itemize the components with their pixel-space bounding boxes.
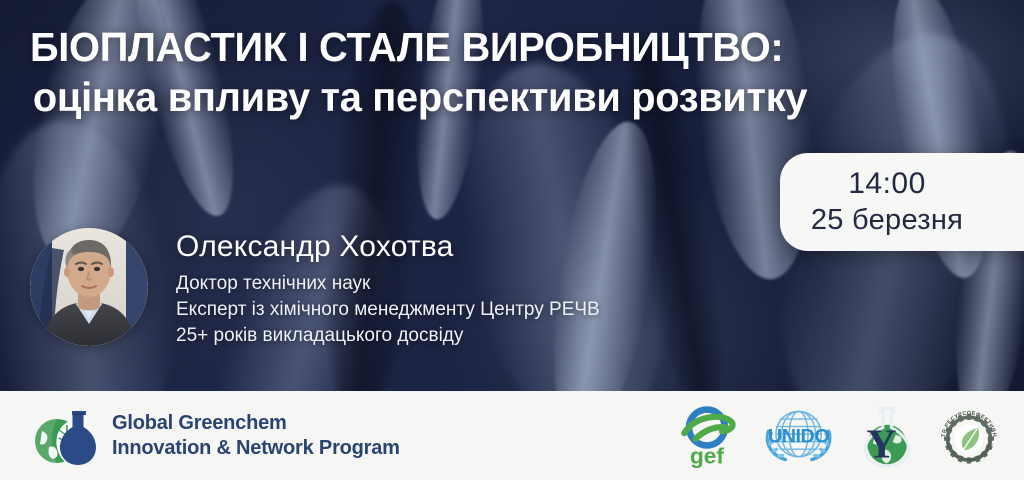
event-date: 25 березня [811, 202, 963, 238]
event-banner: БІОПЛАСТИК І СТАЛЕ ВИРОБНИЦТВО: оцінка в… [0, 0, 1024, 480]
title-line-2: оцінка впливу та перспективи розвитку [30, 72, 903, 122]
partner-logos: gef [673, 403, 1002, 469]
title-line-1: БІОПЛАСТИК І СТАЛЕ ВИРОБНИЦТВО: [30, 24, 783, 70]
unido-logo: UNIDO [759, 403, 838, 469]
avatar [30, 228, 148, 346]
speaker-credential-3: 25+ років викладацького досвіду [176, 323, 600, 349]
page-title: БІОПЛАСТИК І СТАЛЕ ВИРОБНИЦТВО: оцінка в… [30, 22, 903, 122]
gef-logo: gef [673, 403, 741, 469]
brand-logo: Global Greenchem Innovation & Network Pr… [32, 405, 400, 467]
footer-bar: Global Greenchem Innovation & Network Pr… [0, 391, 1024, 480]
speaker-name: Олександр Хохотва [176, 228, 600, 266]
globe-flask-icon [32, 405, 98, 467]
schedule-badge: 14:00 25 березня [780, 153, 1024, 251]
svg-text:Y: Y [866, 420, 896, 466]
speaker-info: Олександр Хохотва Доктор технічних наук … [176, 228, 600, 349]
rcp-center-logo: ЦЕНТР РЕСУРСОЕФЕКТИВНОГО ТА ЧИСТОГО ВИРО… [936, 403, 1002, 469]
svg-text:gef: gef [690, 443, 724, 468]
brand-line-1: Global Greenchem [112, 411, 400, 436]
speaker-credential-1: Доктор технічних наук [176, 271, 600, 297]
brand-text: Global Greenchem Innovation & Network Pr… [112, 411, 400, 461]
brand-line-2: Innovation & Network Program [112, 436, 400, 461]
portrait-photo-icon [30, 228, 148, 346]
speaker-credential-2: Експерт із хімічного менеджменту Центру … [176, 297, 600, 323]
flask-y-logo: Y [856, 403, 918, 469]
event-time: 14:00 [848, 166, 926, 202]
svg-text:UNIDO: UNIDO [767, 425, 828, 447]
